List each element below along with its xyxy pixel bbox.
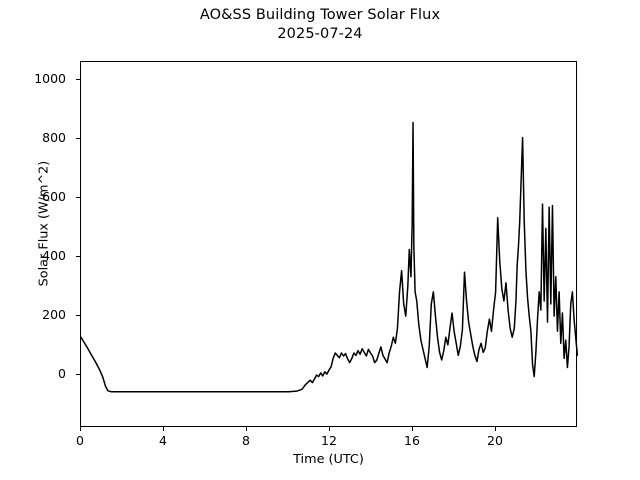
- x-tick-label: 16: [382, 434, 442, 448]
- y-tick-mark: [76, 138, 80, 139]
- solar-flux-line: [81, 123, 577, 392]
- plot-area: [80, 61, 577, 427]
- y-tick-label: 600: [0, 191, 66, 204]
- x-tick-mark: [412, 427, 413, 431]
- y-tick-label: 1000: [0, 73, 66, 86]
- x-axis-label: Time (UTC): [80, 452, 577, 467]
- chart-title-line-1: AO&SS Building Tower Solar Flux: [0, 6, 640, 25]
- solar-flux-figure: AO&SS Building Tower Solar Flux 2025-07-…: [0, 0, 640, 480]
- x-tick-mark: [163, 427, 164, 431]
- x-tick-label: 4: [133, 434, 193, 448]
- chart-title: AO&SS Building Tower Solar Flux 2025-07-…: [0, 6, 640, 44]
- y-tick-label: 200: [0, 309, 66, 322]
- y-tick-mark: [76, 374, 80, 375]
- data-line-series: [81, 62, 578, 428]
- y-tick-mark: [76, 315, 80, 316]
- chart-title-line-2: 2025-07-24: [0, 25, 640, 44]
- x-tick-label: 0: [50, 434, 110, 448]
- y-tick-label: 0: [0, 368, 66, 381]
- y-tick-mark: [76, 197, 80, 198]
- x-tick-mark: [495, 427, 496, 431]
- x-tick-label: 8: [216, 434, 276, 448]
- x-tick-label: 20: [465, 434, 525, 448]
- x-tick-mark: [329, 427, 330, 431]
- x-tick-label: 12: [299, 434, 359, 448]
- y-axis-label: Solar Flux (W/m^2): [37, 94, 52, 354]
- y-tick-mark: [76, 256, 80, 257]
- y-tick-mark: [76, 79, 80, 80]
- y-tick-label: 400: [0, 250, 66, 263]
- x-tick-mark: [80, 427, 81, 431]
- y-tick-label: 800: [0, 132, 66, 145]
- x-tick-mark: [246, 427, 247, 431]
